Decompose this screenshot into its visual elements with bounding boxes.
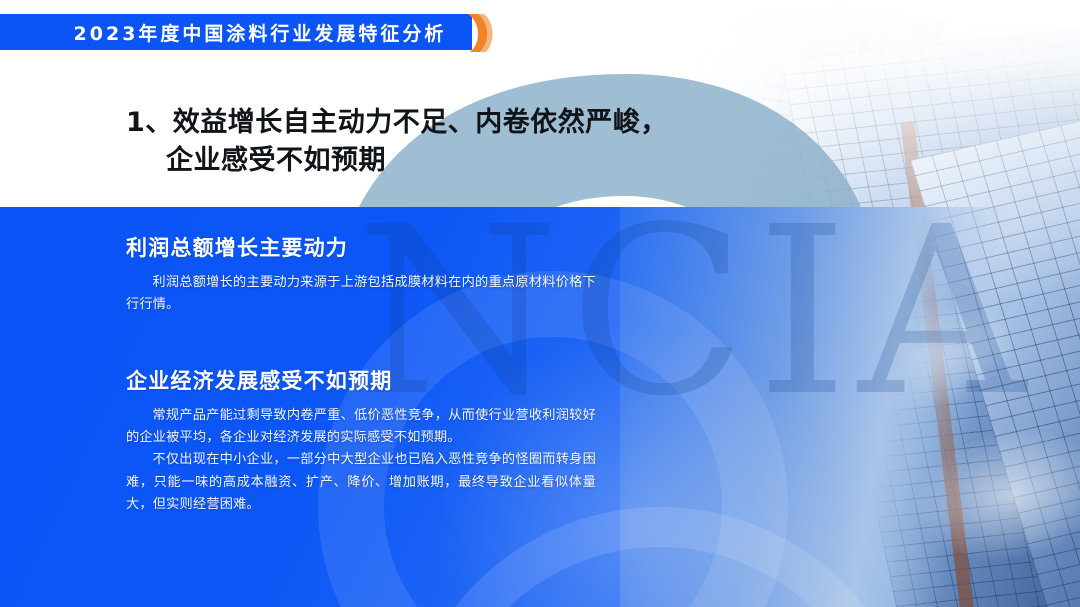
page-title: 1、效益增长自主动力不足、内卷依然严峻， 企业感受不如预期 <box>126 104 766 181</box>
section-heading-2: 企业经济发展感受不如预期 <box>126 365 596 395</box>
section-1-paragraph-1: 利润总额增长的主要动力来源于上游包括成膜材料在内的重点原材料价格下行行情。 <box>126 272 596 316</box>
section-enterprise-sentiment: 企业经济发展感受不如预期 常规产品产能过剩导致内卷严重、低价恶性竞争，从而使行业… <box>126 365 596 516</box>
page-title-line2: 企业感受不如预期 <box>126 142 766 180</box>
section-2-paragraph-1: 常规产品产能过剩导致内卷严重、低价恶性竞争，从而使行业营收利润较好的企业被平均，… <box>126 405 596 449</box>
page-title-line1: 1、效益增长自主动力不足、内卷依然严峻， <box>126 107 668 138</box>
section-profit-growth: 利润总额增长主要动力 利润总额增长的主要动力来源于上游包括成膜材料在内的重点原材… <box>126 232 596 316</box>
header-title: 2023年度中国涂料行业发展特征分析 <box>26 19 447 46</box>
header-bar: 2023年度中国涂料行业发展特征分析 <box>0 14 472 50</box>
slide-canvas: NCIA 2023年度中国涂料行业发展特征分析 1、效益增长自主动力不足、内卷依… <box>0 0 1080 607</box>
section-heading-1: 利润总额增长主要动力 <box>126 232 596 262</box>
section-2-paragraph-2: 不仅出现在中小企业，一部分中大型企业也已陷入恶性竞争的怪圈而转身困难，只能一味的… <box>126 449 596 516</box>
